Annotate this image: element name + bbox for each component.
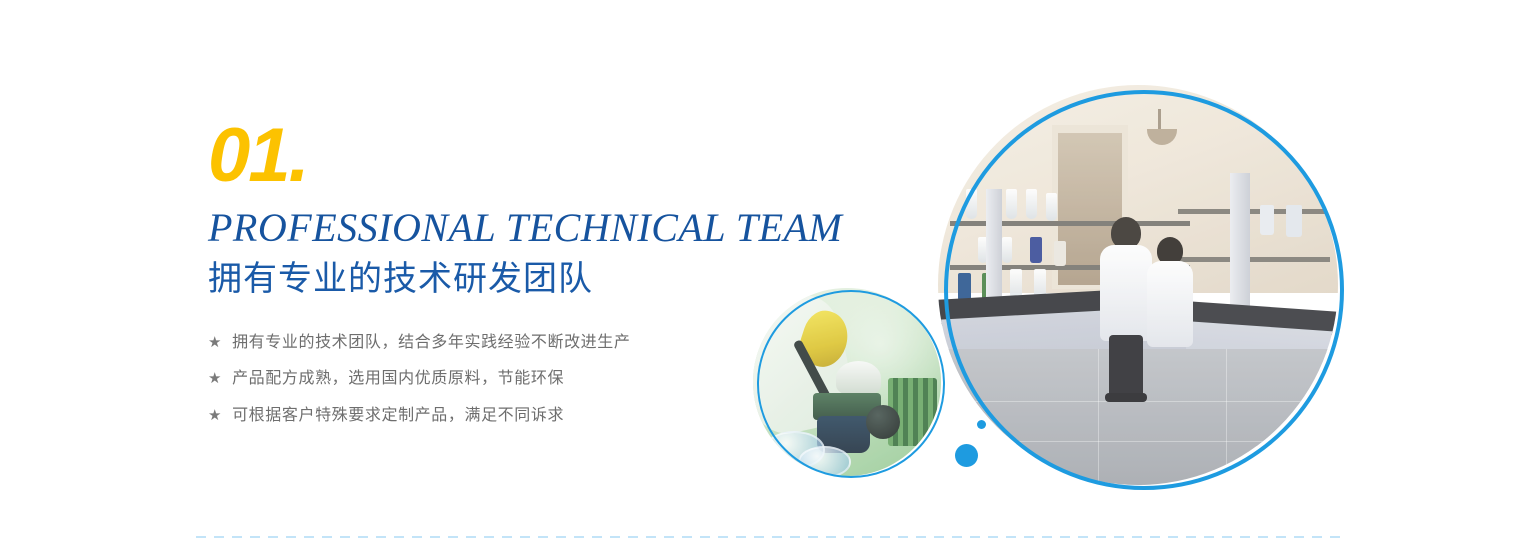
glassware-shape <box>1006 189 1017 219</box>
reagent-bottle-shape <box>1054 241 1066 266</box>
reagent-bottle-shape <box>1030 237 1042 263</box>
star-icon: ★ <box>208 335 222 352</box>
glassware-shape <box>1046 193 1057 221</box>
floor-tile-line <box>938 441 1338 442</box>
reagent-bottle-shape <box>1260 205 1274 235</box>
researcher-figure <box>1146 237 1194 397</box>
floor-tile-line <box>1226 349 1227 485</box>
reagent-bottle-shape <box>958 273 971 301</box>
glassware-shape <box>966 189 977 219</box>
microscope-knob-shape <box>866 405 900 439</box>
dashed-divider <box>196 536 1346 538</box>
lab-coat-shape <box>1100 245 1152 341</box>
glassware-shape <box>1002 237 1012 263</box>
lamp-rod-shape <box>1158 109 1161 129</box>
reagent-bottle-shape <box>1286 205 1302 237</box>
lab-coat-shape <box>1147 261 1193 347</box>
section-number: 01. <box>208 118 928 194</box>
shoes-shape <box>1105 393 1147 402</box>
microscope-scene <box>753 288 941 476</box>
title-english: PROFESSIONAL TECHNICAL TEAM <box>208 206 928 250</box>
shelf-shape <box>1178 209 1330 214</box>
microscope-photo <box>753 288 941 476</box>
accent-dot-large <box>955 444 978 467</box>
laboratory-photo <box>938 85 1338 485</box>
shelf-shape <box>1178 257 1330 262</box>
microscope-head-shape <box>836 361 881 395</box>
laboratory-scene <box>938 85 1338 485</box>
promo-banner: 01. PROFESSIONAL TECHNICAL TEAM 拥有专业的技术研… <box>0 0 1525 560</box>
petri-dish-shape <box>798 446 851 476</box>
legs-shape <box>1109 335 1143 397</box>
glassware-shape <box>1026 189 1037 219</box>
star-icon: ★ <box>208 371 222 388</box>
star-icon: ★ <box>208 408 222 425</box>
accent-dot-small <box>977 420 986 429</box>
